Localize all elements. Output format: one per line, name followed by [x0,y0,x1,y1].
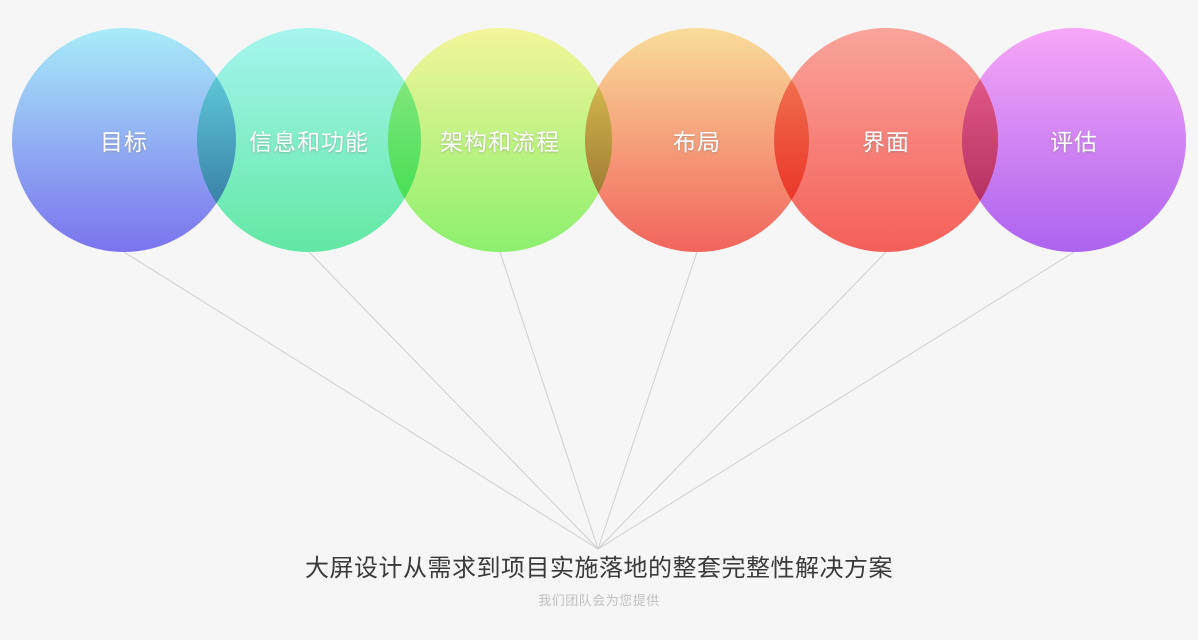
page-title: 大屏设计从需求到项目实施落地的整套完整性解决方案 [0,552,1198,586]
diagram-canvas: 目标信息和功能架构和流程布局界面评估 大屏设计从需求到项目实施落地的整套完整性解… [0,0,1198,640]
circle-architecture-and-process[interactable] [388,28,612,252]
circle-group [0,0,1198,300]
circle-evaluation[interactable] [962,28,1186,252]
caption-block: 大屏设计从需求到项目实施落地的整套完整性解决方案 我们团队会为您提供 [0,552,1198,610]
page-subtitle: 我们团队会为您提供 [0,592,1198,610]
